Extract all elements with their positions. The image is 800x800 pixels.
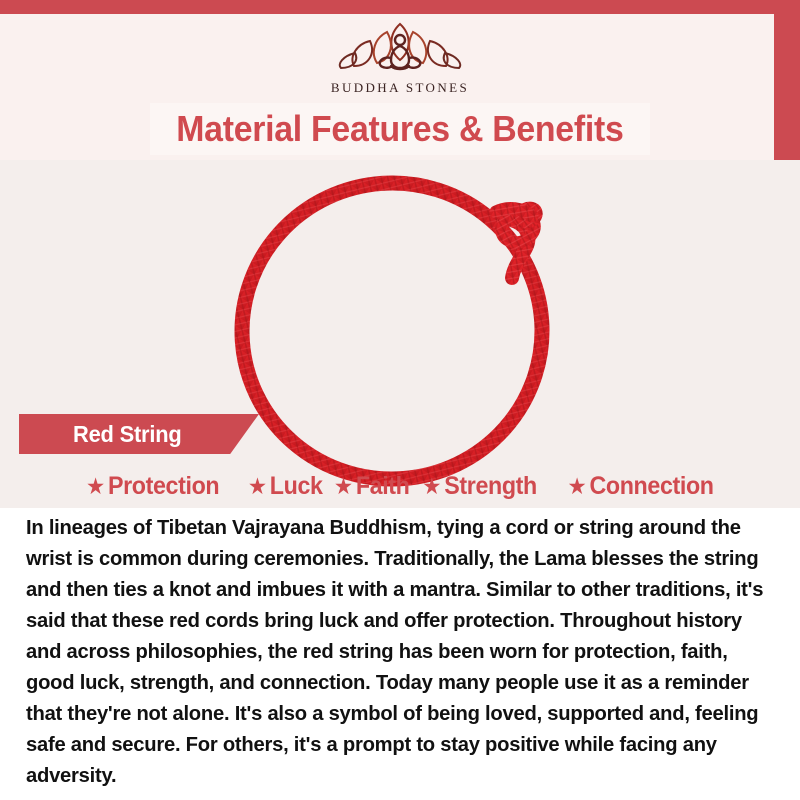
description-text: In lineages of Tibetan Vajrayana Buddhis… bbox=[26, 512, 767, 791]
brand-name: BUDDHA STONES bbox=[331, 80, 469, 96]
lotus-meditation-icon bbox=[325, 16, 475, 78]
feature-item-luck: ★ Luck bbox=[247, 472, 322, 501]
star-icon: ★ bbox=[334, 475, 353, 498]
brand-logo: BUDDHA STONES bbox=[0, 16, 800, 100]
feature-label: Protection bbox=[108, 472, 219, 501]
page-title: Material Features & Benefits bbox=[176, 108, 623, 150]
feature-label: Luck bbox=[269, 472, 322, 501]
feature-item-strength: ★ Strength bbox=[423, 472, 538, 501]
top-accent-bar bbox=[0, 0, 800, 14]
product-label-text: Red String bbox=[73, 421, 182, 448]
feature-label: Strength bbox=[445, 472, 538, 501]
star-icon: ★ bbox=[423, 475, 442, 498]
star-icon: ★ bbox=[567, 475, 586, 498]
infographic-page: BUDDHA STONES Material Features & Benefi… bbox=[0, 0, 800, 800]
description-panel: In lineages of Tibetan Vajrayana Buddhis… bbox=[0, 508, 800, 800]
product-label-banner: Red String bbox=[19, 414, 259, 454]
star-icon: ★ bbox=[86, 475, 105, 498]
feature-list: ★ Protection ★ Luck ★ Faith ★ Strength ★… bbox=[0, 466, 800, 506]
feature-item-connection: ★ Connection bbox=[567, 472, 713, 501]
feature-label: Faith bbox=[356, 472, 410, 501]
product-photo bbox=[0, 160, 800, 508]
feature-item-protection: ★ Protection bbox=[86, 472, 219, 501]
feature-label: Connection bbox=[589, 472, 713, 501]
star-icon: ★ bbox=[247, 475, 266, 498]
title-banner: Material Features & Benefits bbox=[150, 103, 650, 155]
feature-item-faith: ★ Faith bbox=[334, 472, 410, 501]
